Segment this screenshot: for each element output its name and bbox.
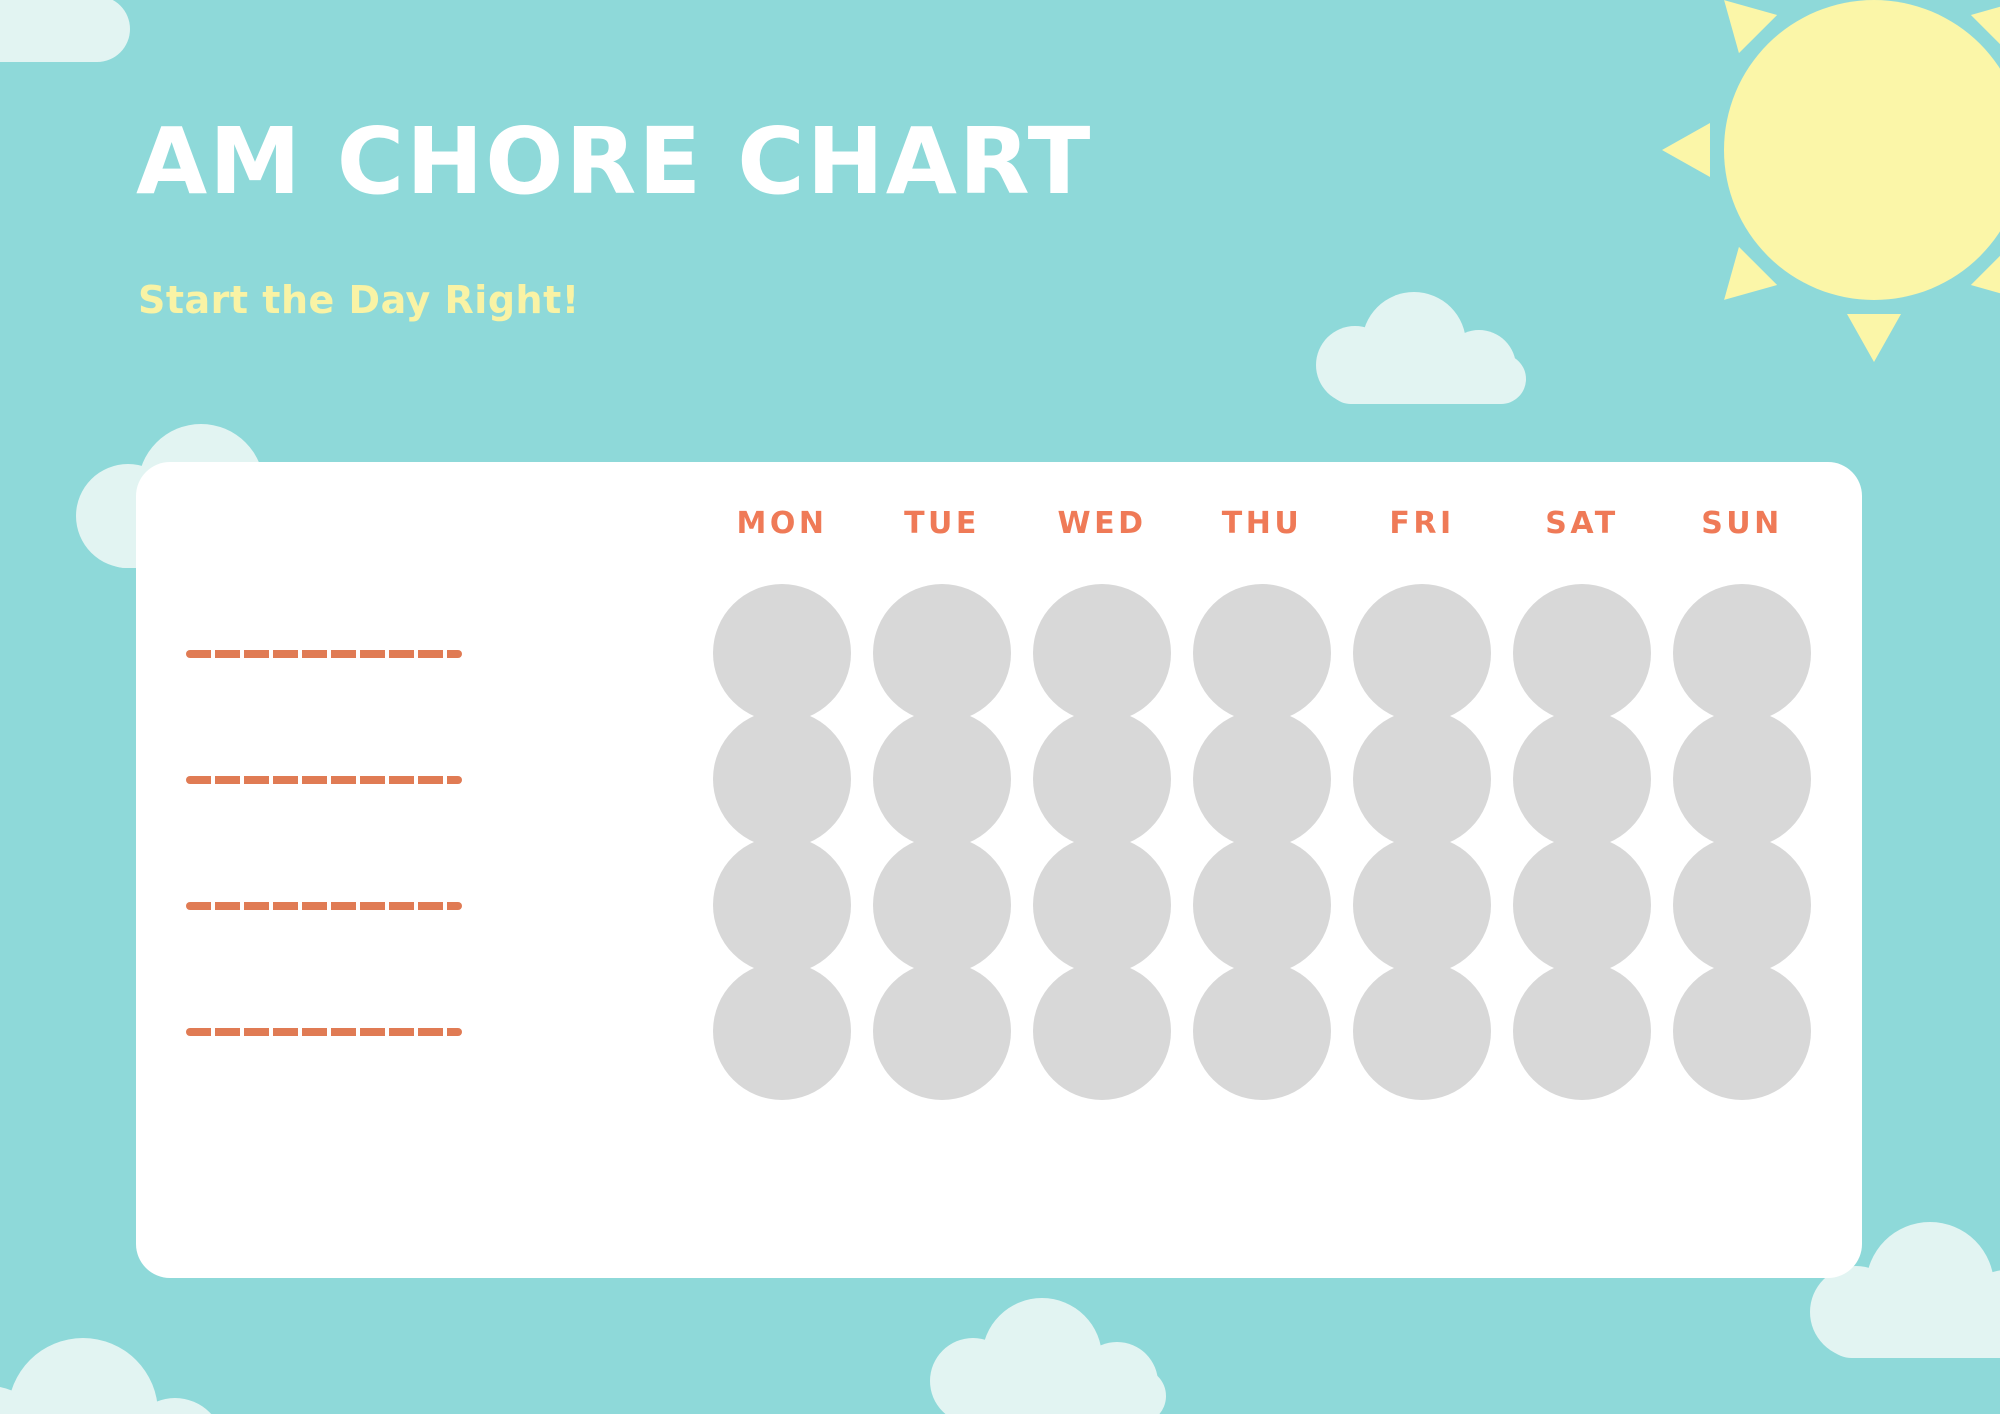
sticker-circle bbox=[873, 962, 1011, 1100]
chore-label-input-4[interactable] bbox=[186, 1028, 462, 1036]
sticker-slot-sun-4[interactable] bbox=[1662, 962, 1822, 1100]
chore-label-input-2[interactable] bbox=[186, 776, 462, 784]
cloud-bottom-middle bbox=[930, 1298, 1180, 1414]
chore-chart-card: MON TUE WED THU FRI SAT SUN bbox=[136, 462, 1862, 1278]
sticker-slot-fri-4[interactable] bbox=[1342, 962, 1502, 1100]
sun-disc bbox=[1724, 0, 2000, 300]
sticker-slot-wed-4[interactable] bbox=[1022, 962, 1182, 1100]
sticker-slot-thu-4[interactable] bbox=[1182, 962, 1342, 1100]
chore-label-input-3[interactable] bbox=[186, 902, 462, 910]
chore-label-input-1[interactable] bbox=[186, 650, 462, 658]
sticker-slot-tue-4[interactable] bbox=[862, 962, 1022, 1100]
chore-chart-page: AM CHORE CHART Start the Day Right! MON … bbox=[0, 0, 2000, 1414]
sticker-circle bbox=[1033, 962, 1171, 1100]
chore-rows bbox=[136, 462, 1862, 1278]
sticker-circle bbox=[1513, 962, 1651, 1100]
cloud-bottom-left bbox=[0, 1338, 240, 1414]
sticker-circle bbox=[1353, 962, 1491, 1100]
cloud-top-middle bbox=[1316, 292, 1536, 404]
sticker-circle bbox=[1673, 962, 1811, 1100]
sticker-track-4 bbox=[702, 962, 1822, 1100]
sun-icon bbox=[1574, 0, 2000, 450]
cloud-top-left bbox=[0, 0, 180, 62]
sticker-circle bbox=[1193, 962, 1331, 1100]
sticker-circle bbox=[713, 962, 851, 1100]
sticker-slot-mon-4[interactable] bbox=[702, 962, 862, 1100]
sticker-slot-sat-4[interactable] bbox=[1502, 962, 1662, 1100]
page-title: AM CHORE CHART bbox=[136, 108, 1092, 215]
chore-row bbox=[136, 950, 1862, 1113]
page-subtitle: Start the Day Right! bbox=[138, 278, 580, 322]
